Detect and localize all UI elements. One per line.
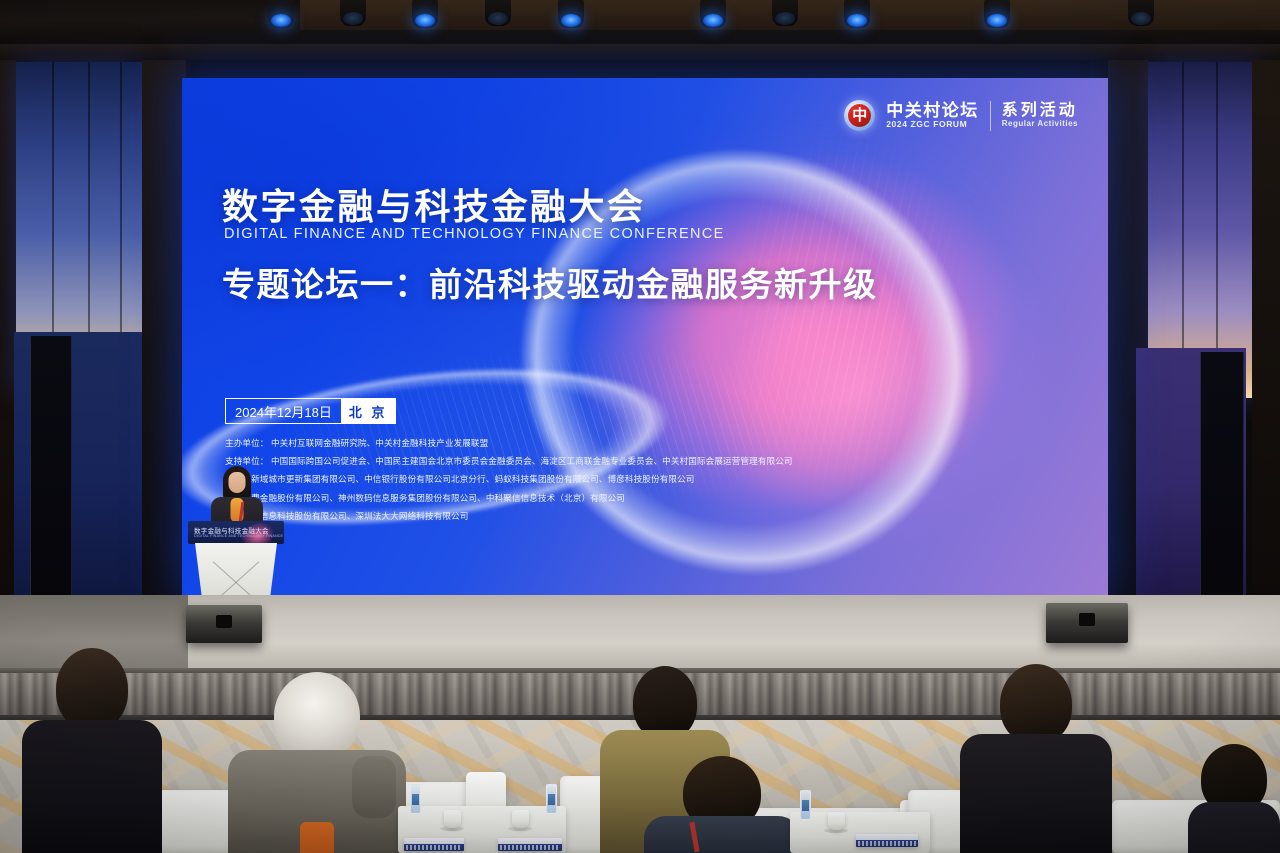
water-bottle bbox=[800, 790, 811, 820]
forum-emblem-icon: 中 bbox=[844, 100, 875, 131]
presenter bbox=[206, 466, 268, 528]
tea-cup bbox=[512, 810, 529, 828]
speaker-port bbox=[1079, 613, 1095, 626]
organizer-line: 上海合合信息科技股份有限公司、深圳法大大网络科技有限公司 bbox=[225, 512, 793, 521]
tea-cup bbox=[828, 812, 845, 830]
water-bottle bbox=[546, 784, 557, 814]
audience-member bbox=[960, 664, 1112, 853]
audience-head bbox=[274, 672, 360, 760]
event-city: 北 京 bbox=[341, 399, 396, 423]
stage-light-icon bbox=[772, 0, 798, 26]
organizer-list: 主办单位： 中关村互联网金融研究院、中关村金融科技产业发展联盟 支持单位： 中国… bbox=[225, 439, 793, 530]
organizer-line: 主办单位： 中关村互联网金融研究院、中关村金融科技产业发展联盟 bbox=[225, 439, 793, 448]
name-card-text bbox=[858, 841, 916, 846]
audience-arm bbox=[352, 756, 396, 818]
stage-light-icon bbox=[558, 0, 584, 28]
name-card-text bbox=[406, 845, 462, 850]
audience-member bbox=[228, 672, 406, 853]
conference-title-cn: 数字金融与科技金融大会 bbox=[222, 178, 646, 230]
stage-light-icon bbox=[700, 0, 726, 28]
stage-light-icon bbox=[1128, 0, 1154, 26]
right-wall-column bbox=[1252, 60, 1280, 660]
audience-torso bbox=[644, 816, 800, 853]
name-card bbox=[404, 838, 464, 851]
forum-session-subtitle: 专题论坛一：前沿科技驱动金融服务新升级 bbox=[222, 258, 878, 306]
stage-light-icon bbox=[268, 0, 294, 28]
forum-name-cn: 中关村论坛 bbox=[886, 102, 979, 120]
conference-title-en: DIGITAL FINANCE AND TECHNOLOGY FINANCE C… bbox=[224, 226, 725, 242]
left-wall-doorway bbox=[30, 336, 72, 620]
stage-light-icon bbox=[412, 0, 438, 28]
conference-hall-photo: 中 中关村论坛 2024 ZGC FORUM 系列活动 Regular Acti… bbox=[0, 0, 1280, 853]
organizer-line: 支持单位： 中国国际跨国公司促进会、中国民主建国会北京市委员会金融委员会、海淀区… bbox=[225, 457, 793, 466]
presenter-face bbox=[229, 472, 246, 493]
podium-banner-subtitle: DIGITAL FINANCE AND TECHNOLOGY FINANCE C… bbox=[194, 534, 284, 538]
zgc-forum-logo: 中 中关村论坛 2024 ZGC FORUM 系列活动 Regular Acti… bbox=[834, 94, 1088, 137]
organizer-line: 马上消费金融股份有限公司、神州数码信息服务集团股份有限公司、中科聚信信息技术（北… bbox=[225, 494, 793, 503]
audience-torso bbox=[1188, 802, 1280, 853]
audience-scarf bbox=[300, 822, 334, 853]
left-wall-dark-gap bbox=[142, 60, 186, 620]
name-card-text bbox=[500, 845, 560, 850]
name-card bbox=[498, 838, 562, 851]
forum-sub-cn: 系列活动 bbox=[1002, 103, 1078, 120]
led-stage-screen: 中 中关村论坛 2024 ZGC FORUM 系列活动 Regular Acti… bbox=[182, 78, 1108, 595]
organizer-line: 北京海新域城市更新集团有限公司、中信银行股份有限公司北京分行、蚂蚁科技集团股份有… bbox=[225, 475, 793, 484]
date-location-badge: 2024年12月18日 北 京 bbox=[225, 398, 396, 424]
audience-head bbox=[1000, 664, 1072, 744]
audience-torso bbox=[960, 734, 1112, 853]
audience-member bbox=[1188, 744, 1280, 853]
tea-cup bbox=[444, 810, 461, 828]
stage-monitor-speaker bbox=[186, 605, 262, 643]
water-bottle bbox=[410, 784, 421, 814]
stage-light-icon bbox=[340, 0, 366, 26]
audience-member bbox=[22, 648, 162, 853]
logo-divider bbox=[990, 101, 991, 131]
stage-light-icon bbox=[984, 0, 1010, 28]
stage-monitor-speaker bbox=[1046, 603, 1128, 643]
audience-torso bbox=[22, 720, 162, 853]
audience-member bbox=[644, 756, 800, 853]
forum-sub-en: Regular Activities bbox=[1002, 120, 1078, 129]
forum-emblem-letter: 中 bbox=[852, 108, 867, 123]
name-card bbox=[856, 834, 918, 847]
right-wall-doorway bbox=[1200, 352, 1244, 620]
podium-banner: 数字金融与科技金融大会 DIGITAL FINANCE AND TECHNOLO… bbox=[188, 521, 284, 544]
forum-name-en: 2024 ZGC FORUM bbox=[886, 120, 979, 129]
audience-head bbox=[633, 666, 697, 740]
audience-head bbox=[56, 648, 128, 730]
stage-light-icon bbox=[485, 0, 511, 26]
stage-light-icon bbox=[844, 0, 870, 28]
event-date: 2024年12月18日 bbox=[226, 399, 341, 423]
speaker-port bbox=[216, 615, 232, 628]
